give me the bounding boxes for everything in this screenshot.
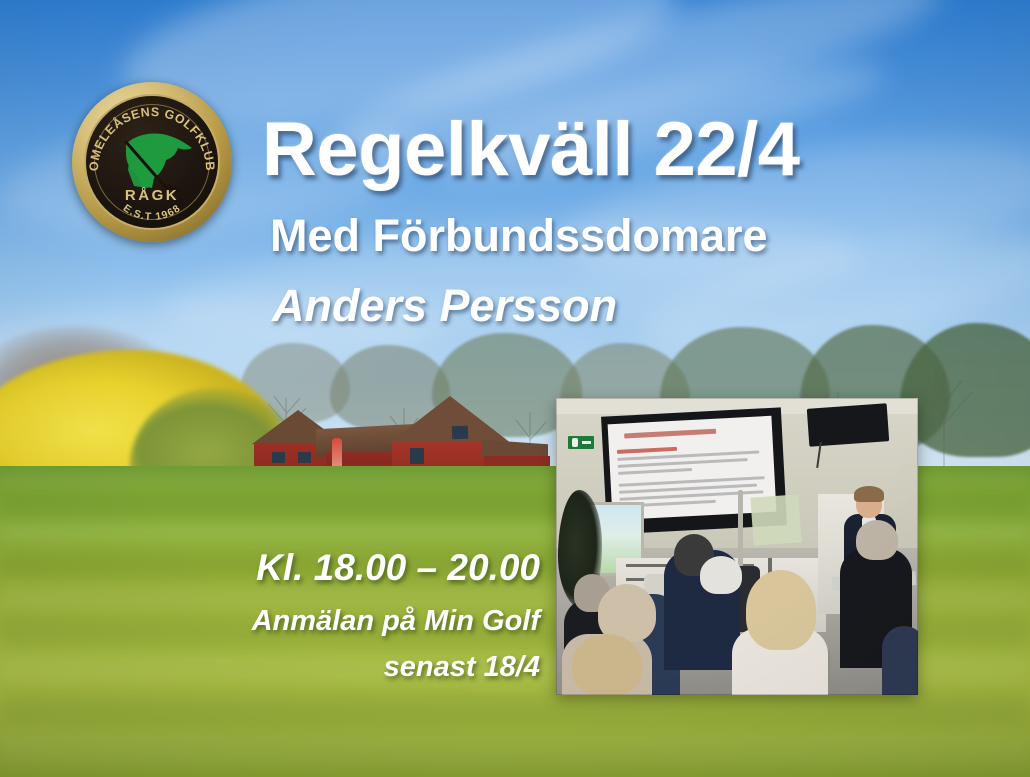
roof-right — [388, 396, 512, 444]
audience-head-cap — [700, 556, 742, 594]
audience-head — [856, 520, 898, 560]
window — [410, 448, 424, 464]
slide-text-line — [618, 468, 692, 475]
presenter-hair — [854, 486, 884, 502]
wall-tv — [807, 403, 889, 446]
exit-figure-icon — [572, 438, 578, 447]
window — [298, 452, 311, 463]
svg-text:E.S.T 1968: E.S.T 1968 — [121, 202, 183, 223]
slide-heading — [624, 429, 716, 439]
dormer-window — [452, 426, 468, 440]
audience-body — [882, 626, 918, 695]
audience-head — [572, 634, 642, 695]
poster-title: Regelkväll 22/4 — [262, 112, 800, 188]
lecture-photo — [556, 398, 918, 695]
slide-highlight — [617, 447, 677, 454]
poster-subtitle-role: Med Förbundssdomare — [270, 213, 768, 258]
audience-head — [746, 570, 816, 650]
event-time: Kl. 18.00 – 20.00 — [160, 548, 540, 588]
emergency-exit-sign — [568, 436, 594, 449]
logo-artwork: ROMELEÅSENS GOLFKLUBB RÅGK E.S.T 1968 — [72, 82, 232, 242]
logo-abbreviation: RÅGK — [125, 187, 179, 204]
registration-info: Anmälan på Min Golf — [160, 606, 540, 638]
club-logo: ROMELEÅSENS GOLFKLUBB RÅGK E.S.T 1968 — [72, 82, 232, 242]
exit-arrow-icon — [582, 441, 591, 444]
window — [272, 452, 285, 463]
logo-established: E.S.T 1968 — [121, 202, 183, 223]
event-details: Kl. 18.00 – 20.00 Anmälan på Min Golf se… — [160, 548, 540, 684]
event-poster: ROMELEÅSENS GOLFKLUBB RÅGK E.S.T 1968 Re… — [0, 0, 1030, 777]
registration-deadline: senast 18/4 — [160, 652, 540, 684]
notice-board — [750, 494, 801, 545]
poster-subtitle-name: Anders Persson — [272, 283, 617, 328]
